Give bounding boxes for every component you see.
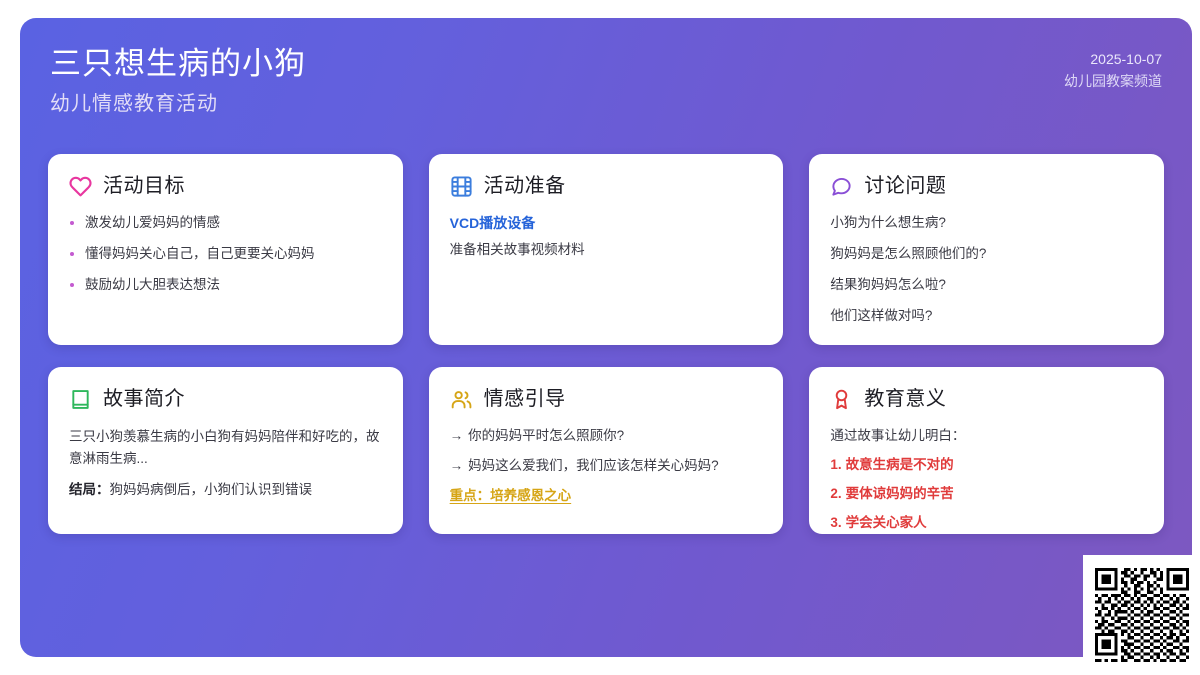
list-item: 1.故意生病是不对的 — [830, 455, 1143, 474]
list-item-number: 1. — [830, 457, 841, 472]
header-channel: 幼儿园教案频道 — [1064, 70, 1162, 92]
list-item: 懂得妈妈关心自己，自己更要关心妈妈 — [69, 244, 382, 263]
card-title: 情感引导 — [484, 387, 566, 411]
card-title: 活动目标 — [103, 174, 185, 198]
card-title: 讨论问题 — [864, 174, 946, 198]
goal-bullet-list: 激发幼儿爱妈妈的情感 懂得妈妈关心自己，自己更要关心妈妈 鼓励幼儿大胆表达想法 — [69, 213, 382, 294]
preparation-key-item: VCD播放设备 — [450, 213, 763, 233]
slide-root: 三只想生病的小狗 幼儿情感教育活动 2025-10-07 幼儿园教案频道 活动目… — [0, 0, 1200, 675]
guidance-list: →你的妈妈平时怎么照顾你? →妈妈这么爱我们，我们应该怎样关心妈妈? — [450, 426, 763, 475]
page-subtitle: 幼儿情感教育活动 — [50, 90, 306, 118]
card-discussion-questions: 讨论问题 小狗为什么想生病? 狗妈妈是怎么照顾他们的? 结果狗妈妈怎么啦? 他们… — [809, 154, 1164, 345]
book-icon — [69, 388, 92, 411]
list-item-number: 3. — [830, 515, 841, 530]
header-left: 三只想生病的小狗 幼儿情感教育活动 — [50, 44, 306, 118]
film-icon — [450, 175, 473, 198]
card-activity-preparation: 活动准备 VCD播放设备 准备相关故事视频材料 — [429, 154, 784, 345]
story-body: 三只小狗羡慕生病的小白狗有妈妈陪伴和好吃的，故意淋雨生病... — [69, 426, 382, 470]
list-item: 3.学会关心家人 — [830, 513, 1143, 532]
list-item-text: 你的妈妈平时怎么照顾你? — [468, 428, 624, 443]
card-header: 活动目标 — [69, 174, 382, 198]
list-item: 狗妈妈是怎么照顾他们的? — [830, 244, 1143, 263]
card-title: 故事简介 — [103, 387, 185, 411]
preparation-note: 准备相关故事视频材料 — [450, 240, 763, 259]
list-item: →你的妈妈平时怎么照顾你? — [450, 426, 763, 445]
story-ending-text: 狗妈妈病倒后，小狗们认识到错误 — [110, 482, 313, 497]
card-emotional-guidance: 情感引导 →你的妈妈平时怎么照顾你? →妈妈这么爱我们，我们应该怎样关心妈妈? … — [429, 367, 784, 534]
card-activity-goal: 活动目标 激发幼儿爱妈妈的情感 懂得妈妈关心自己，自己更要关心妈妈 鼓励幼儿大胆… — [48, 154, 403, 345]
list-item: 他们这样做对吗? — [830, 306, 1143, 325]
list-item: 2.要体谅妈妈的辛苦 — [830, 484, 1143, 503]
card-grid: 活动目标 激发幼儿爱妈妈的情感 懂得妈妈关心自己，自己更要关心妈妈 鼓励幼儿大胆… — [48, 154, 1164, 534]
question-list: 小狗为什么想生病? 狗妈妈是怎么照顾他们的? 结果狗妈妈怎么啦? 他们这样做对吗… — [830, 213, 1143, 325]
card-header: 故事简介 — [69, 387, 382, 411]
list-item: 小狗为什么想生病? — [830, 213, 1143, 232]
card-title: 教育意义 — [864, 387, 946, 411]
list-item-number: 2. — [830, 486, 841, 501]
users-icon — [450, 388, 473, 411]
slide-header: 三只想生病的小狗 幼儿情感教育活动 2025-10-07 幼儿园教案频道 — [50, 44, 1162, 140]
award-icon — [830, 388, 853, 411]
card-educational-meaning: 教育意义 通过故事让幼儿明白： 1.故意生病是不对的 2.要体谅妈妈的辛苦 3.… — [809, 367, 1164, 534]
header-date: 2025-10-07 — [1064, 48, 1162, 70]
list-item: 结果狗妈妈怎么啦? — [830, 275, 1143, 294]
card-header: 活动准备 — [450, 174, 763, 198]
list-item: →妈妈这么爱我们，我们应该怎样关心妈妈? — [450, 456, 763, 475]
list-item-text: 妈妈这么爱我们，我们应该怎样关心妈妈? — [468, 458, 719, 473]
story-ending: 结局：狗妈妈病倒后，小狗们认识到错误 — [69, 480, 382, 500]
list-item-text: 学会关心家人 — [846, 515, 927, 530]
guidance-key-link[interactable]: 重点：培养感恩之心 — [450, 486, 572, 505]
qr-code-icon[interactable] — [1095, 568, 1189, 662]
list-item-text: 故意生病是不对的 — [846, 457, 954, 472]
card-title: 活动准备 — [484, 174, 566, 198]
card-header: 讨论问题 — [830, 174, 1143, 198]
arrow-icon: → — [450, 428, 464, 443]
meaning-list: 1.故意生病是不对的 2.要体谅妈妈的辛苦 3.学会关心家人 — [830, 455, 1143, 532]
header-right: 2025-10-07 幼儿园教案频道 — [1064, 48, 1162, 92]
qr-code-panel[interactable] — [1083, 555, 1200, 675]
card-header: 情感引导 — [450, 387, 763, 411]
card-header: 教育意义 — [830, 387, 1143, 411]
gradient-panel: 三只想生病的小狗 幼儿情感教育活动 2025-10-07 幼儿园教案频道 活动目… — [20, 18, 1192, 657]
list-item: 鼓励幼儿大胆表达想法 — [69, 275, 382, 294]
arrow-icon: → — [450, 458, 464, 473]
card-story-summary: 故事简介 三只小狗羡慕生病的小白狗有妈妈陪伴和好吃的，故意淋雨生病... 结局：… — [48, 367, 403, 534]
meaning-lead: 通过故事让幼儿明白： — [830, 426, 1143, 445]
page-title: 三只想生病的小狗 — [50, 44, 306, 84]
speech-bubble-icon — [830, 175, 853, 198]
story-ending-label: 结局： — [69, 482, 110, 497]
list-item: 激发幼儿爱妈妈的情感 — [69, 213, 382, 232]
heart-icon — [69, 175, 92, 198]
list-item-text: 要体谅妈妈的辛苦 — [846, 486, 954, 501]
